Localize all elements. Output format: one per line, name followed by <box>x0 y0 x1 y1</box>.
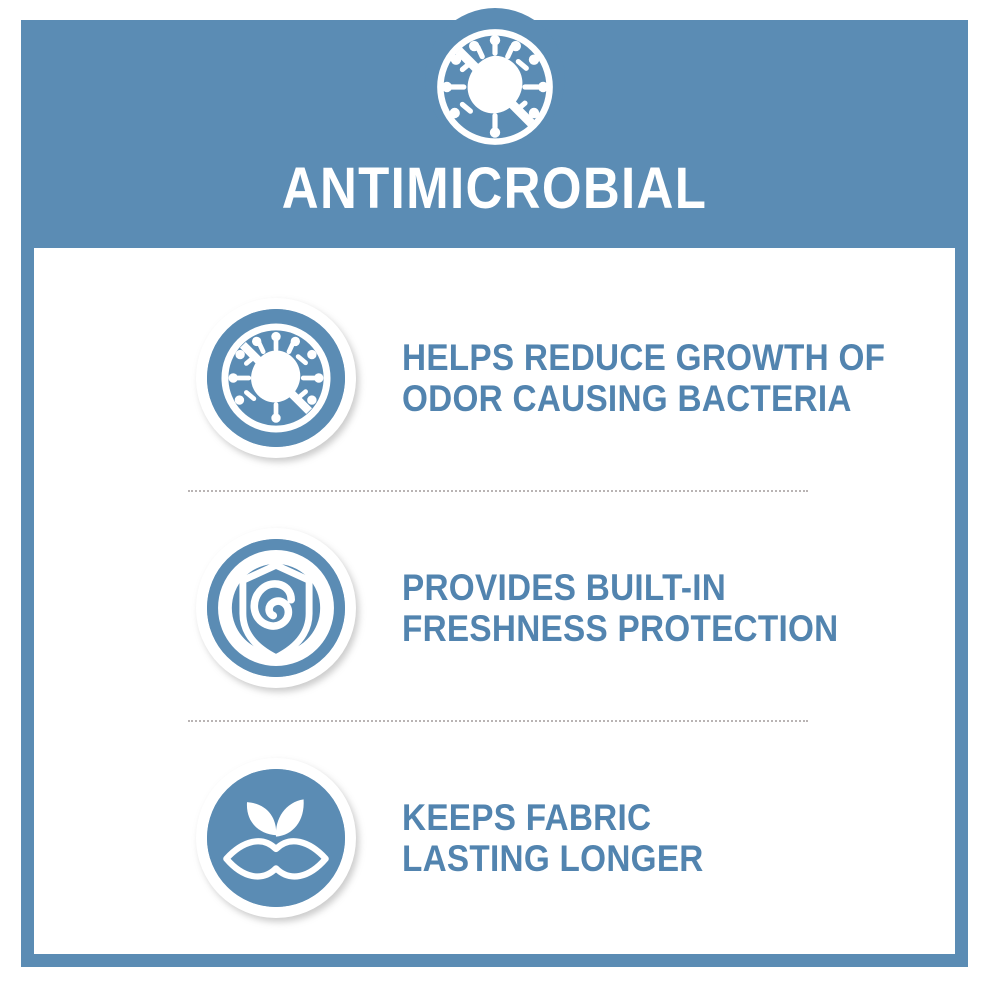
feature-text: KEEPS FABRIC LASTING LONGER <box>402 797 704 879</box>
feature-row: PROVIDES BUILT-IN FRESHNESS PROTECTION <box>34 508 955 708</box>
leaf-fabric-icon <box>196 758 356 918</box>
row-divider <box>188 720 808 722</box>
feature-text: HELPS REDUCE GROWTH OF ODOR CAUSING BACT… <box>402 337 885 419</box>
feature-text: PROVIDES BUILT-IN FRESHNESS PROTECTION <box>402 567 839 649</box>
no-germs-icon <box>196 298 356 458</box>
feature-row: HELPS REDUCE GROWTH OF ODOR CAUSING BACT… <box>34 278 955 478</box>
content-panel: HELPS REDUCE GROWTH OF ODOR CAUSING BACT… <box>34 248 955 954</box>
row-divider <box>188 490 808 492</box>
page-title: ANTIMICROBIAL <box>78 158 911 220</box>
antimicrobial-infographic: ANTIMICROBIAL <box>0 0 990 990</box>
shield-freshness-icon <box>196 528 356 688</box>
no-germs-icon <box>430 22 560 152</box>
feature-row: KEEPS FABRIC LASTING LONGER <box>34 738 955 938</box>
